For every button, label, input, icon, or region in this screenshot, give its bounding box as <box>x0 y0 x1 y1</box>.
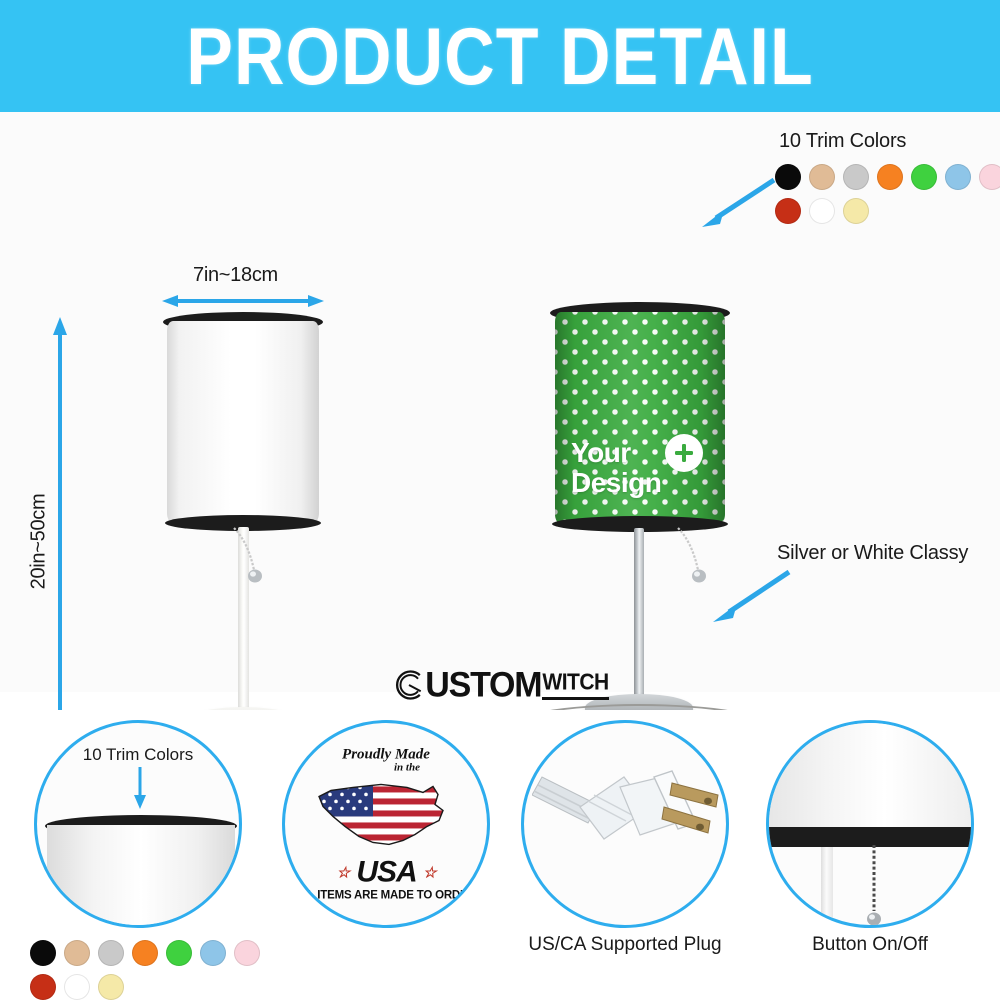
usa-map-flag-icon <box>311 774 461 852</box>
swatch-gray-2[interactable] <box>98 940 124 966</box>
swatch-tan-2[interactable] <box>64 940 90 966</box>
trim-color-swatches-bottom <box>30 940 262 1000</box>
feature-row: 10 Trim Colors <box>0 710 1000 1000</box>
plus-icon <box>665 434 703 472</box>
trim-colors-callout-label: 10 Trim Colors <box>779 130 906 153</box>
feature-trim-colors: 10 Trim Colors <box>24 720 252 988</box>
detail-shade-body <box>47 825 235 928</box>
product-stage: 7in~18cm 20in~50cm <box>0 112 1000 692</box>
feature-power-plug: US/CA Supported Plug <box>511 720 739 956</box>
usa-badge-subtitle: ALL ITEMS ARE MADE TO ORDER! <box>291 890 481 902</box>
detail-switch-shade-body <box>767 723 974 829</box>
swatch-white[interactable] <box>809 198 835 224</box>
feature-pull-switch-circle <box>766 720 974 928</box>
lamp-shade-green: Your Design <box>555 312 725 524</box>
power-plug-icon <box>532 751 728 901</box>
swatch-green-2[interactable] <box>166 940 192 966</box>
pull-chain-white[interactable] <box>228 526 268 588</box>
swatch-yellow[interactable] <box>843 198 869 224</box>
logo-underline <box>542 697 608 700</box>
feature-power-plug-circle <box>521 720 729 928</box>
swatch-yellow-2[interactable] <box>98 974 124 1000</box>
feature-made-in-usa: Proudly Made in the <box>272 720 500 928</box>
swatch-red-2[interactable] <box>30 974 56 1000</box>
swatch-pink-2[interactable] <box>234 940 260 966</box>
design-line-1: Your <box>571 438 661 468</box>
swatch-tan[interactable] <box>809 164 835 190</box>
feature-power-plug-caption: US/CA Supported Plug <box>511 934 739 956</box>
star-right-icon: ☆ <box>423 865 435 882</box>
swatch-light-blue[interactable] <box>945 164 971 190</box>
brand-logo: USTOM WITCH <box>0 662 1000 708</box>
logo-custom-text: USTOM <box>425 665 541 706</box>
swatch-light-blue-2[interactable] <box>200 940 226 966</box>
swatch-orange[interactable] <box>877 164 903 190</box>
feature-pull-switch: Button On/Off <box>756 720 984 956</box>
page-title: PRODUCT DETAIL <box>186 10 814 103</box>
logo-witch-block: WITCH <box>542 671 608 700</box>
feature-trim-colors-circle: 10 Trim Colors <box>34 720 242 928</box>
design-placeholder-text: Your Design <box>571 438 661 498</box>
lamp-white <box>0 112 400 652</box>
trim-colors-pointer-arrow <box>694 174 780 230</box>
swatch-white-2[interactable] <box>64 974 90 1000</box>
logo-c-icon <box>391 667 427 703</box>
star-left-icon: ☆ <box>337 865 349 882</box>
feature-made-in-usa-circle: Proudly Made in the <box>282 720 490 928</box>
plus-glyph <box>672 441 696 465</box>
base-finish-pointer-arrow <box>705 564 795 624</box>
usa-badge: Proudly Made in the <box>291 746 481 901</box>
lamp-shade-white <box>167 321 319 523</box>
design-line-2: Design <box>571 468 661 498</box>
base-finish-callout-label: Silver or White Classy <box>777 542 968 565</box>
detail-switch-trim <box>766 827 974 847</box>
swatch-pink[interactable] <box>979 164 1000 190</box>
usa-badge-title: ☆ USA ☆ <box>291 857 481 888</box>
feature-trim-colors-label: 10 Trim Colors <box>37 745 239 765</box>
feature-trim-colors-arrow <box>133 767 147 809</box>
usa-badge-title-text: USA <box>356 855 415 888</box>
product-detail-page: PRODUCT DETAIL 7in~18cm 20in~50cm <box>0 0 1000 1000</box>
logo-witch-text: WITCH <box>542 669 608 695</box>
swatch-orange-2[interactable] <box>132 940 158 966</box>
header-banner: PRODUCT DETAIL <box>0 0 1000 112</box>
swatch-gray[interactable] <box>843 164 869 190</box>
feature-pull-switch-caption: Button On/Off <box>756 934 984 956</box>
swatch-black-2[interactable] <box>30 940 56 966</box>
trim-color-swatches-top <box>775 164 1000 224</box>
swatch-green[interactable] <box>911 164 937 190</box>
detail-switch-pole <box>821 847 833 928</box>
detail-pull-chain-icon[interactable] <box>865 845 885 928</box>
